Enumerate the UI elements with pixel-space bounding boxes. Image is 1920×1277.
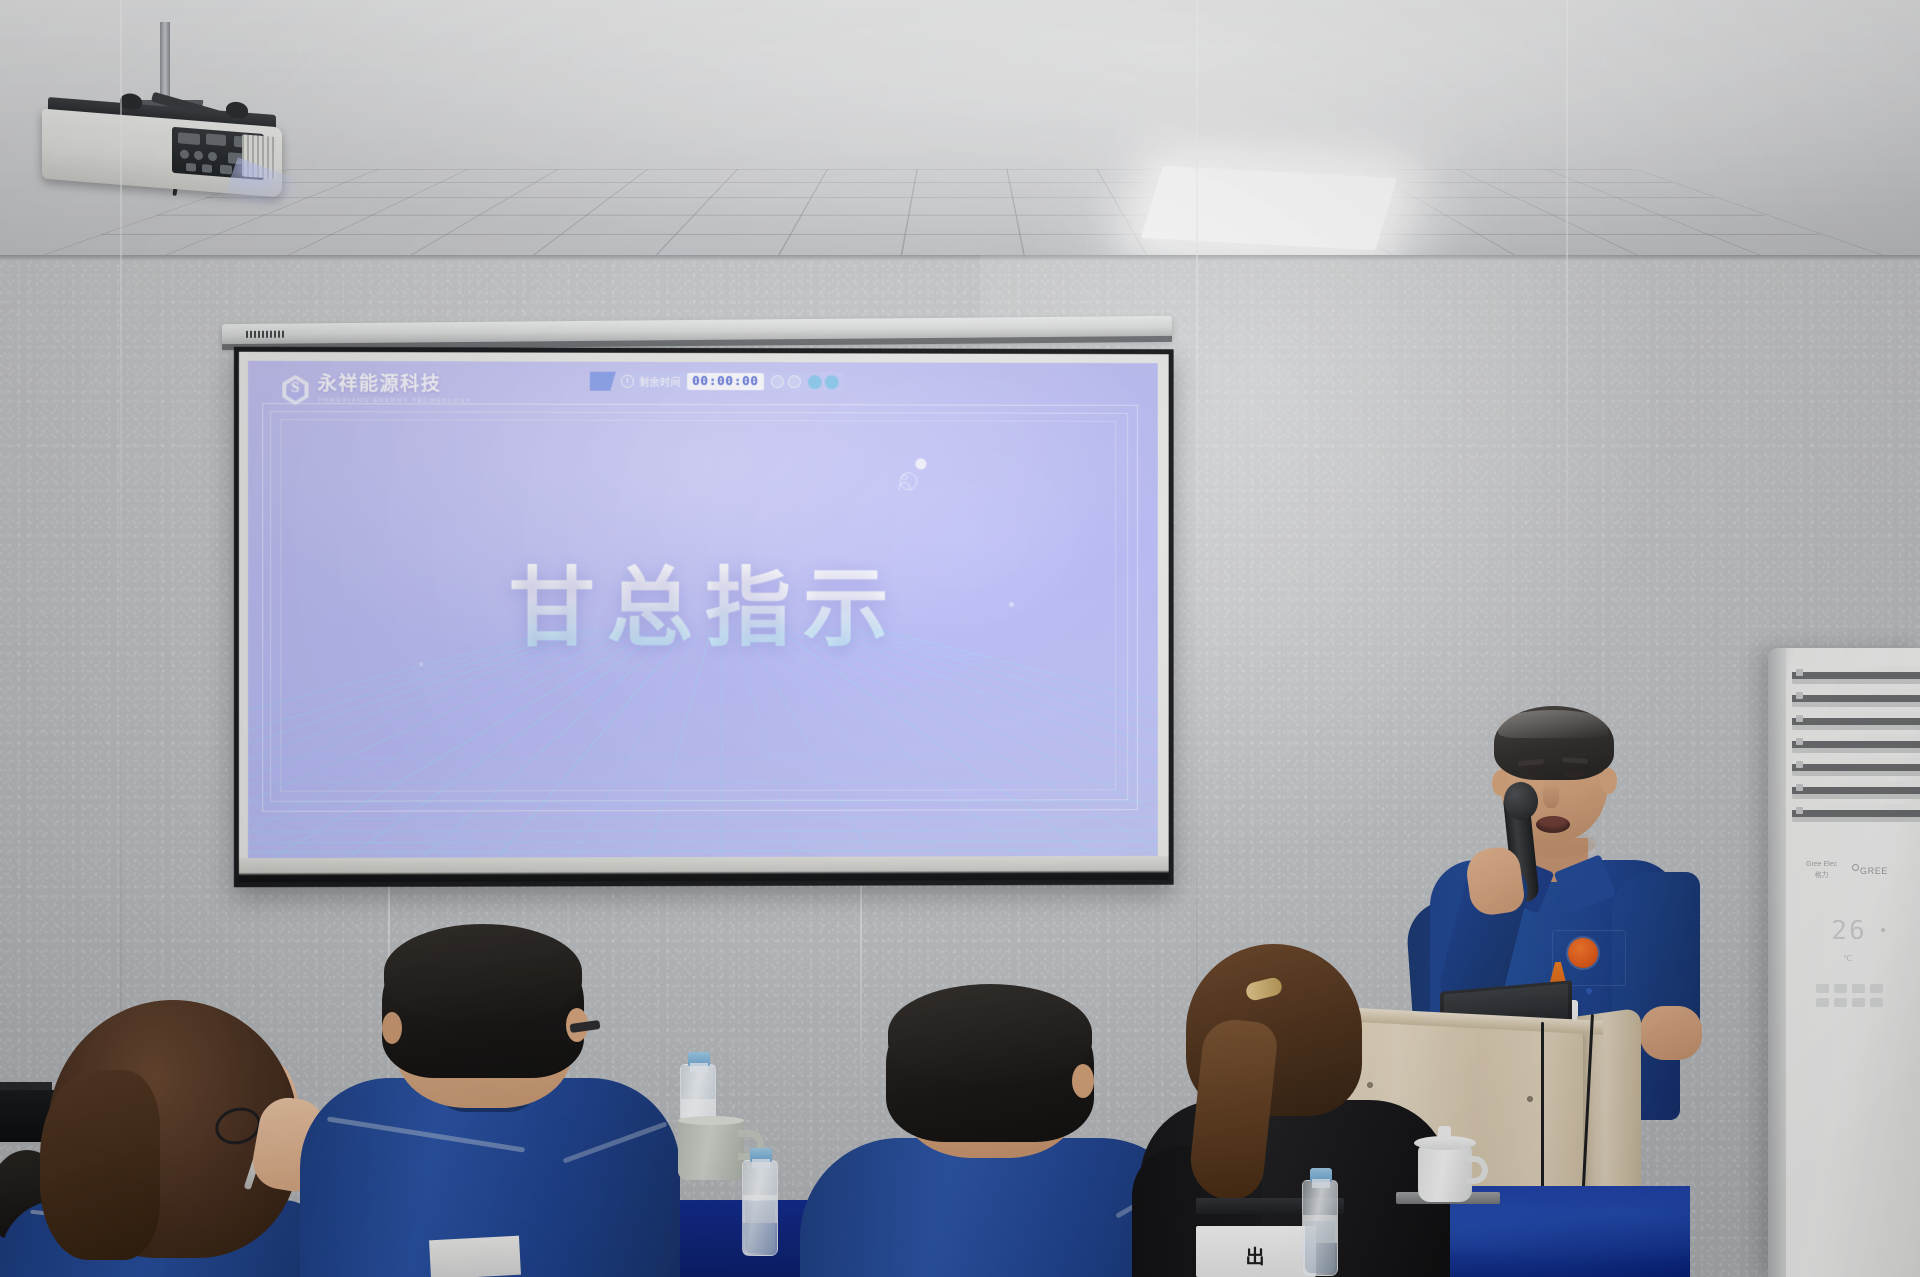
slide-grid-ray <box>248 629 723 858</box>
water-bottle-3 <box>1302 1180 1338 1276</box>
projector-port-vga1 <box>178 132 200 145</box>
teacup-lid-knob <box>1438 1126 1451 1139</box>
slide-grid-ray <box>566 629 723 858</box>
podium-screw-1 <box>1367 1082 1373 1088</box>
presenter-pocket-button <box>1586 988 1592 994</box>
timer-settings-icon[interactable] <box>807 375 821 389</box>
name-placard-text: 出 <box>1196 1242 1316 1269</box>
ac-vent-louver <box>1792 781 1920 799</box>
slide-grid-horizon <box>248 849 1158 853</box>
water-bottle-2 <box>742 1160 778 1256</box>
slide-particle-dot-3 <box>419 662 423 666</box>
ac-button-swing[interactable] <box>1834 998 1847 1007</box>
slide-grid-ray <box>722 629 879 858</box>
gray-mug <box>678 1118 744 1180</box>
screen-surface: S 永祥能源科技 YONGXIANG ENERGY TECHNOLOGY 剩余时… <box>239 352 1169 883</box>
ac-display-dot <box>1881 928 1885 932</box>
ac-button-up[interactable] <box>1834 984 1847 993</box>
timer-tab-icon <box>590 372 616 391</box>
audience-3-hair-front <box>888 984 1092 1082</box>
slide-perspective-grid <box>248 629 1158 858</box>
podium-screw-2 <box>1527 1096 1533 1102</box>
ac-brand-en: Gree Elec <box>1806 861 1837 868</box>
ac-brand-label: GREE <box>1860 866 1888 876</box>
hexagon-logo-icon: S <box>282 375 308 405</box>
ac-vent-louver <box>1792 758 1920 776</box>
screen-bottom-edge <box>239 856 1169 882</box>
slide-grid-ray <box>248 629 723 858</box>
ac-vent-louver <box>1792 804 1920 822</box>
audience-3-ear <box>1072 1064 1094 1098</box>
table-paper-sheet <box>429 1236 521 1277</box>
slide-grid-ray <box>410 629 724 858</box>
bottle-neck-3 <box>1312 1179 1330 1188</box>
ac-button-timer[interactable] <box>1816 998 1829 1007</box>
ac-vent-grille <box>1792 666 1920 826</box>
clock-icon <box>621 375 634 388</box>
timer-reset-button[interactable] <box>788 375 801 388</box>
ac-button-fan[interactable] <box>1870 984 1883 993</box>
logo-text-chinese: 永祥能源科技 <box>318 375 472 394</box>
projector-port-lan <box>220 165 232 175</box>
slide-timer-widget[interactable]: 剩余时间 00:00:00 <box>590 372 843 392</box>
presenter-hand-right <box>1640 1006 1702 1060</box>
air-conditioner: Gree Elec 格力 GREE 26 ℃ <box>1768 648 1920 1277</box>
slide-particle-dot-2 <box>1009 602 1014 607</box>
presenter-company-badge-icon <box>1568 938 1598 968</box>
slide-grid-ray <box>722 629 723 858</box>
bottle-water-3 <box>1305 1221 1335 1273</box>
projector-port-rca3 <box>208 152 217 162</box>
slide-grid-ray <box>722 629 801 858</box>
slide-grid-ray <box>644 629 723 858</box>
slide-grid-ray <box>248 629 723 858</box>
timer-extra-controls[interactable] <box>807 375 838 389</box>
ac-sub-brand: Gree Elec 格力 <box>1806 860 1837 881</box>
projector-port-rca1 <box>180 149 189 159</box>
gray-mug-rim <box>678 1116 744 1125</box>
slide-person-icon <box>898 474 912 492</box>
ac-brand-icon <box>1852 864 1859 871</box>
ac-vent-louver <box>1792 689 1920 707</box>
logo-text-english: YONGXIANG ENERGY TECHNOLOGY <box>318 399 472 406</box>
bottle-neck-2 <box>752 1159 770 1168</box>
slide-grid-ray <box>248 629 723 858</box>
bottle-water-2 <box>745 1201 775 1253</box>
ac-temperature-unit: ℃ <box>1768 954 1920 963</box>
logo-glyph: S <box>282 380 308 397</box>
ac-vent-louver <box>1792 666 1920 684</box>
presentation-slide: S 永祥能源科技 YONGXIANG ENERGY TECHNOLOGY 剩余时… <box>248 361 1158 858</box>
bottle-neck-1 <box>690 1063 708 1072</box>
slide-grid-ray <box>722 629 956 858</box>
presenter-eye-left <box>1521 772 1543 779</box>
ac-control-buttons[interactable] <box>1768 984 1920 1007</box>
ac-button-sleep[interactable] <box>1852 998 1865 1007</box>
screenshot-root: S 永祥能源科技 YONGXIANG ENERGY TECHNOLOGY 剩余时… <box>0 0 1920 1277</box>
projection-screen: S 永祥能源科技 YONGXIANG ENERGY TECHNOLOGY 剩余时… <box>234 347 1174 888</box>
presenter-eye-right <box>1563 771 1585 778</box>
slide-grid-horizon <box>248 840 1158 843</box>
slide-grid-ray <box>248 629 723 858</box>
slide-grid-ray <box>248 629 723 858</box>
screen-housing-label <box>246 331 286 338</box>
slide-grid-ray <box>248 629 723 858</box>
timer-play-button[interactable] <box>771 375 784 388</box>
ac-button-power[interactable] <box>1870 998 1883 1007</box>
white-teacup <box>1418 1146 1472 1202</box>
audience-2-hair-front <box>384 924 582 1020</box>
projector-port-rca2 <box>194 151 203 161</box>
slide-grid-horizon <box>248 757 1158 760</box>
ac-temperature-display: 26 <box>1768 916 1920 946</box>
ceiling-led-panel <box>1141 166 1397 250</box>
audience-2-ear-left <box>382 1012 402 1044</box>
slide-particle-dot-1 <box>915 458 926 469</box>
slide-grid-ray <box>488 629 723 858</box>
slide-grid-ray <box>331 629 723 858</box>
ac-button-mode[interactable] <box>1816 984 1829 993</box>
presenter-hair-highlight <box>1498 710 1608 738</box>
timer-label: 剩余时间 <box>639 374 681 389</box>
presenter-ear-right <box>1600 768 1617 794</box>
timer-value: 00:00:00 <box>687 373 764 390</box>
ac-vent-louver <box>1792 712 1920 730</box>
projector-port-vga2 <box>206 133 226 146</box>
presenter-nose <box>1543 782 1559 808</box>
ac-brand-cn: 格力 <box>1815 872 1829 879</box>
slide-grid-horizon <box>248 816 1158 819</box>
slide-title: 甘总指示 <box>248 538 1158 664</box>
timer-expand-icon[interactable] <box>824 375 838 389</box>
ac-button-down[interactable] <box>1852 984 1865 993</box>
slide-grid-horizon <box>248 780 1158 783</box>
audience-1-hair-strand <box>40 1070 160 1260</box>
slide-grid-ray <box>248 629 723 858</box>
name-placard: 出 <box>1196 1226 1316 1277</box>
ac-vent-louver <box>1792 735 1920 753</box>
slide-company-logo: S 永祥能源科技 YONGXIANG ENERGY TECHNOLOGY <box>282 375 472 406</box>
projector-port-usb1 <box>186 163 196 172</box>
projector-port-usb2 <box>202 164 212 173</box>
timer-controls[interactable] <box>771 375 801 388</box>
